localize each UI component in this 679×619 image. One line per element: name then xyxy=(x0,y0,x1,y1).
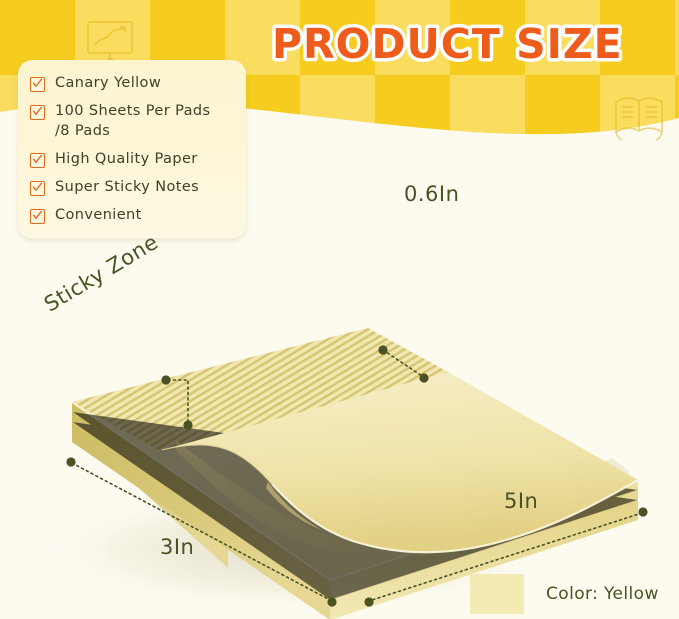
sticky-note-pad-illustration xyxy=(0,150,679,619)
feature-label: Canary Yellow xyxy=(55,74,161,93)
dot-sticky-anchor xyxy=(161,375,170,384)
color-legend-label: Color: Yellow xyxy=(546,584,659,604)
list-item: Canary Yellow xyxy=(30,74,234,93)
checkbox-checked-icon xyxy=(30,105,45,120)
product-size-infographic: PRODUCT SIZE Canary Yellow 100 Sheets Pe… xyxy=(0,0,679,619)
dot-height-top xyxy=(378,345,387,354)
dot-height-bottom xyxy=(419,373,428,382)
checkbox-checked-icon xyxy=(30,77,45,92)
color-legend: Color: Yellow xyxy=(470,574,659,614)
svg-text:PRODUCT SIZE: PRODUCT SIZE xyxy=(272,20,623,68)
dot-length-right xyxy=(638,507,647,516)
dot-sticky-target xyxy=(183,420,192,429)
dot-width-left xyxy=(66,457,75,466)
list-item: 100 Sheets Per Pads /8 Pads xyxy=(30,102,234,141)
color-swatch xyxy=(470,574,524,614)
dimension-label-height: 0.6In xyxy=(404,182,459,206)
dimension-label-width: 3In xyxy=(160,535,194,559)
feature-label: 100 Sheets Per Pads /8 Pads xyxy=(55,102,210,141)
dimension-label-length: 5In xyxy=(504,489,538,513)
dot-length-bottom xyxy=(364,597,373,606)
dot-width-bottom xyxy=(327,597,336,606)
